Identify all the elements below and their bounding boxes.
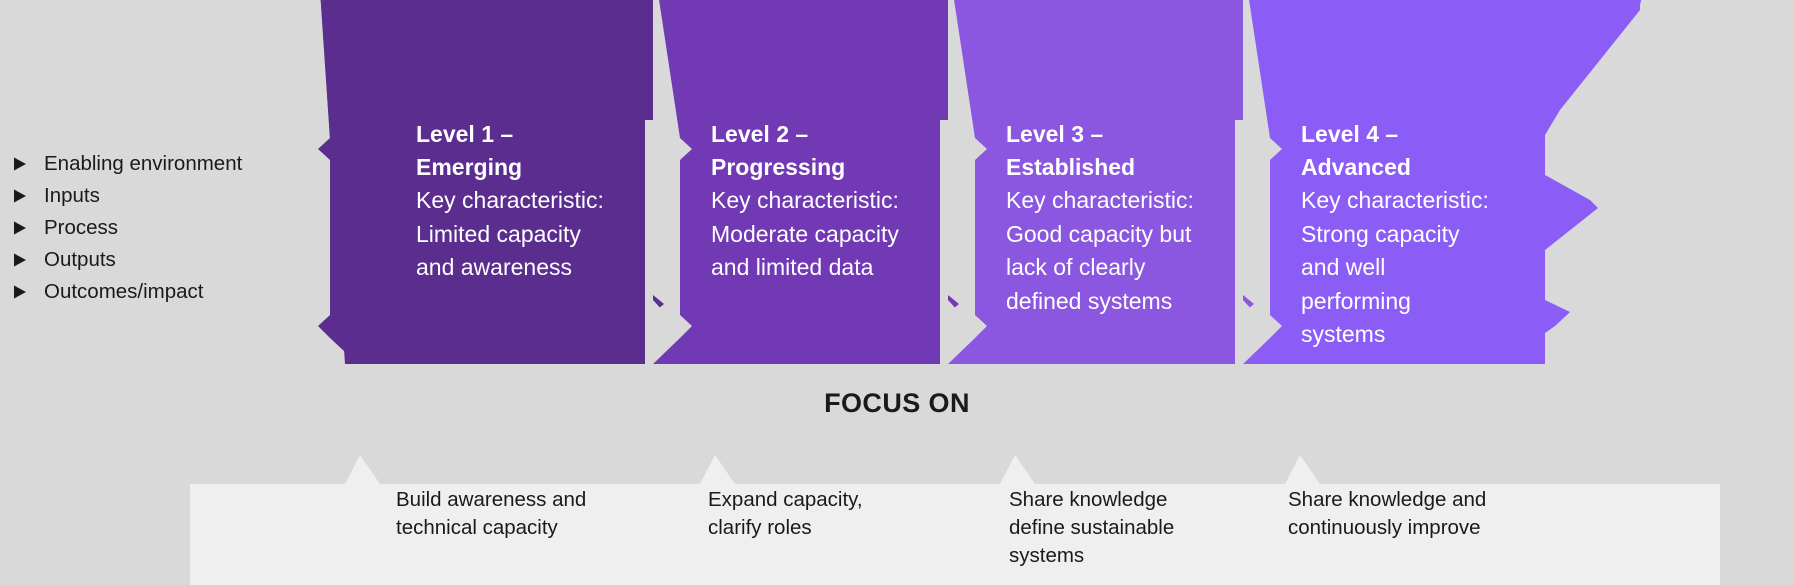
focus-item-2: Expand capacity, clarify roles — [708, 486, 958, 542]
focus-item-1: Build awareness and technical capacity — [396, 486, 646, 542]
chevron-level-2-text: Level 2 – Progressing Key characteristic… — [711, 118, 956, 285]
chevron-level-2-body-text: Key characteristic: Moderate capacity an… — [711, 184, 956, 285]
chevron-level-4-title: Level 4 – Advanced — [1301, 118, 1546, 184]
chevron-level-3-body-text: Key characteristic: Good capacity but la… — [1006, 184, 1251, 318]
chevron-level-1-title: Level 1 – Emerging — [416, 118, 656, 184]
maturity-level-chevrons: Level 1 – Emerging Key characteristic: L… — [0, 0, 1794, 370]
chevron-level-4-body-text: Key characteristic: Strong capacity and … — [1301, 184, 1546, 352]
chevron-level-1-body-text: Key characteristic: Limited capacity and… — [416, 184, 656, 285]
focus-on-heading: FOCUS ON — [0, 388, 1794, 419]
chevron-level-2-title: Level 2 – Progressing — [711, 118, 956, 184]
chevron-level-1-text: Level 1 – Emerging Key characteristic: L… — [416, 118, 656, 285]
chevron-level-3-text: Level 3 – Established Key characteristic… — [1006, 118, 1251, 318]
chevron-level-3-title: Level 3 – Established — [1006, 118, 1251, 184]
focus-item-3: Share knowledge define sustainable syste… — [1009, 486, 1259, 570]
focus-item-4: Share knowledge and continuously improve — [1288, 486, 1548, 542]
maturity-model-diagram: Enabling environment Inputs Process Outp… — [0, 0, 1794, 585]
focus-panel: Build awareness and technical capacity E… — [0, 430, 1794, 585]
chevron-level-4-text: Level 4 – Advanced Key characteristic: S… — [1301, 118, 1546, 352]
